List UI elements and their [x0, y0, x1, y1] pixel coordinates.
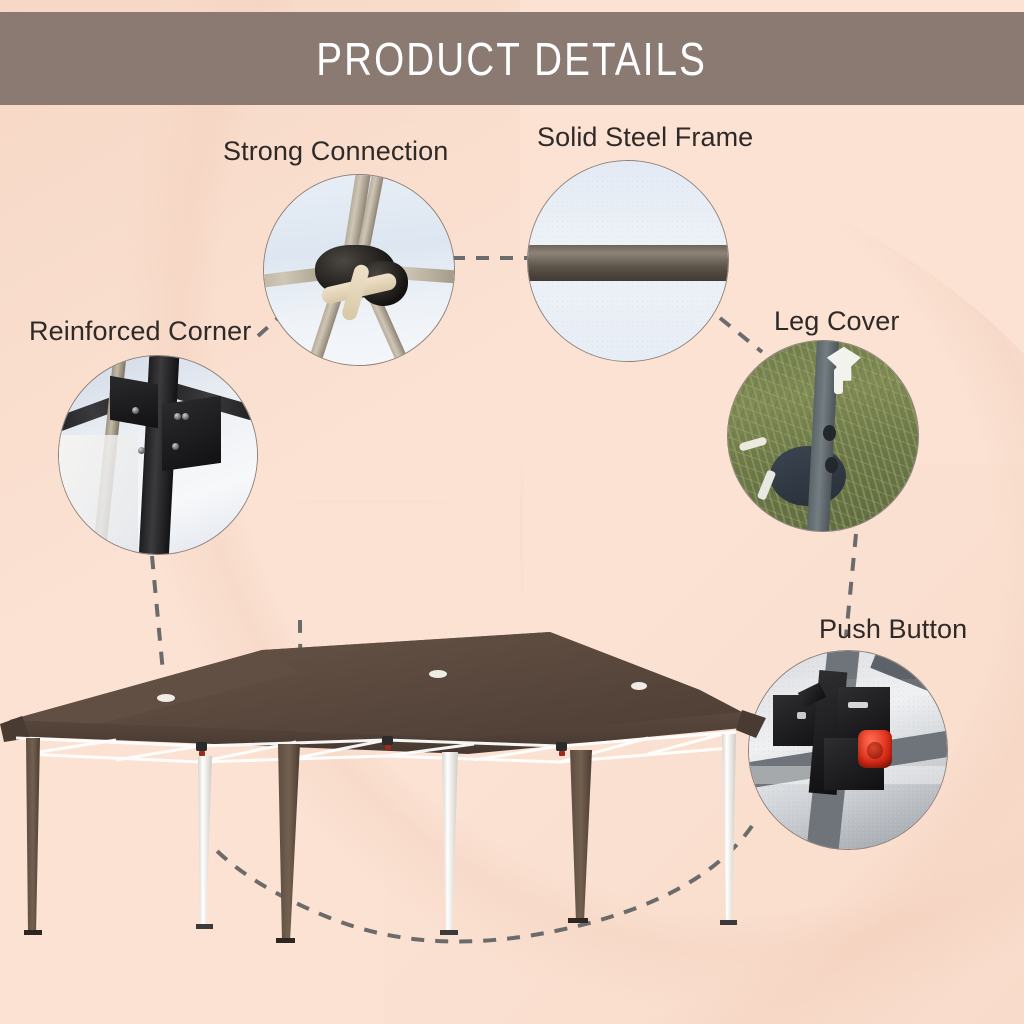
callout-photo-strong-connection	[263, 174, 455, 366]
leg-foot	[440, 930, 458, 935]
header-banner: PRODUCT DETAILS	[0, 12, 1024, 105]
gazebo-leg	[198, 756, 212, 928]
leg-foot	[24, 930, 42, 935]
product-image-gazebo	[0, 612, 790, 972]
hub-joint-photo	[264, 175, 454, 365]
leg-foot	[720, 920, 737, 925]
callout-label-reinforced-corner: Reinforced Corner	[29, 316, 251, 347]
steel-tube	[527, 245, 729, 281]
callout-label-strong-connection: Strong Connection	[223, 136, 448, 167]
leg-stake-grass-photo	[728, 341, 918, 531]
product-details-infographic: PRODUCT DETAILS Strong Connection Solid …	[0, 0, 1024, 1024]
corner-bracket-photo	[59, 356, 257, 554]
callout-label-solid-steel-frame: Solid Steel Frame	[537, 122, 753, 153]
roof-vent	[631, 682, 647, 690]
red-push-button	[858, 730, 892, 768]
callout-label-push-button: Push Button	[819, 614, 967, 645]
roof-vent	[429, 670, 447, 678]
callout-photo-solid-steel-frame	[527, 160, 729, 362]
page-title: PRODUCT DETAILS	[317, 32, 708, 86]
gazebo-leg	[26, 738, 40, 934]
steel-tube-photo	[528, 161, 728, 361]
gazebo-leg	[722, 734, 736, 924]
callout-photo-reinforced-corner	[58, 355, 258, 555]
gazebo-leg	[570, 750, 592, 922]
gazebo-leg	[278, 744, 300, 942]
leg-foot	[568, 918, 588, 923]
leg-foot	[196, 924, 213, 929]
roof-vent	[157, 694, 175, 702]
leg-foot	[276, 938, 295, 943]
callout-label-leg-cover: Leg Cover	[774, 306, 899, 337]
gazebo-leg	[442, 752, 458, 934]
callout-photo-leg-cover	[727, 340, 919, 532]
